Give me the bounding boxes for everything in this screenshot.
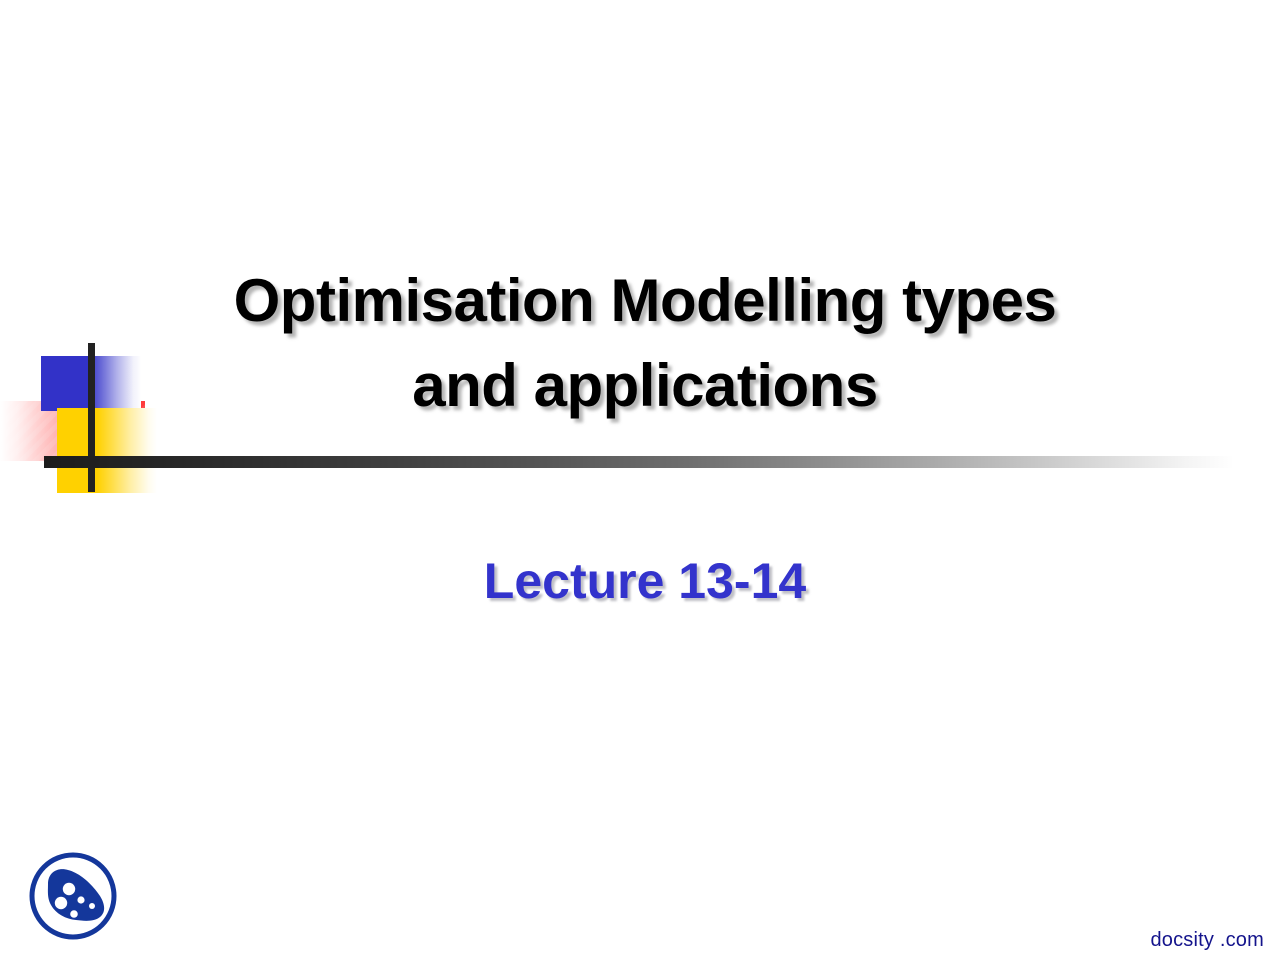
docsity-url-label: docsity .com <box>1150 929 1264 952</box>
docsity-logo-icon <box>26 848 120 944</box>
slide-canvas: Optimisation Modelling types and applica… <box>0 0 1280 960</box>
page-title: Optimisation Modelling types and applica… <box>90 258 1200 428</box>
title-line-2: and applications <box>90 343 1200 428</box>
page-subtitle: Lecture 13-14 <box>90 552 1200 610</box>
subtitle-text: Lecture 13-14 <box>90 552 1200 610</box>
title-line-1: Optimisation Modelling types <box>90 258 1200 343</box>
decorative-horizontal-rule <box>44 456 1234 468</box>
